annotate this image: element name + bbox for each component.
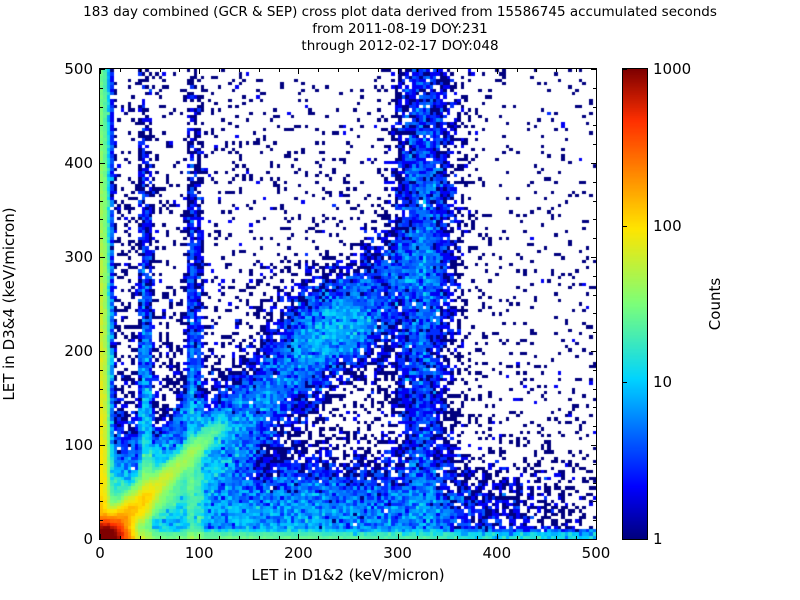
x-minor-tick-top	[477, 69, 478, 72]
figure-canvas: 183 day combined (GCR & SEP) cross plot …	[0, 0, 800, 600]
y-minor-tick	[100, 295, 103, 296]
x-minor-tick	[437, 536, 438, 539]
colorbar-tick	[623, 539, 627, 540]
y-minor-tick	[100, 426, 103, 427]
colorbar-tick	[623, 69, 627, 70]
y-minor-tick-right	[593, 483, 596, 484]
colorbar-tick-label: 1	[653, 530, 663, 548]
y-tick-label: 300	[93, 248, 122, 266]
x-major-tick-top	[398, 69, 399, 74]
y-minor-tick-right	[593, 407, 596, 408]
x-minor-tick	[120, 536, 121, 539]
colorbar-label: Counts	[706, 278, 724, 330]
x-minor-tick	[576, 536, 577, 539]
plot-title: 183 day combined (GCR & SEP) cross plot …	[0, 4, 800, 55]
y-tick-label: 200	[93, 342, 122, 360]
y-minor-tick-right	[593, 276, 596, 277]
x-minor-tick-top	[318, 69, 319, 72]
title-line-1: 183 day combined (GCR & SEP) cross plot …	[0, 4, 800, 21]
y-minor-tick	[100, 313, 103, 314]
x-minor-tick	[358, 536, 359, 539]
x-minor-tick	[338, 536, 339, 539]
y-minor-tick-right	[593, 501, 596, 502]
x-major-tick	[199, 534, 200, 539]
y-minor-tick-right	[593, 332, 596, 333]
title-line-2: from 2011-08-19 DOY:231	[0, 21, 800, 38]
x-minor-tick	[219, 536, 220, 539]
main-axes	[99, 68, 597, 540]
y-minor-tick-right	[593, 389, 596, 390]
x-tick-label: 300	[383, 544, 412, 562]
x-minor-tick	[477, 536, 478, 539]
y-major-tick-right	[591, 69, 596, 70]
colorbar-tick	[623, 226, 627, 227]
x-minor-tick-top	[239, 69, 240, 72]
x-minor-tick	[259, 536, 260, 539]
y-minor-tick	[100, 107, 103, 108]
y-minor-tick-right	[593, 238, 596, 239]
x-minor-tick	[536, 536, 537, 539]
y-minor-tick-right	[593, 144, 596, 145]
x-tick-label: 200	[284, 544, 313, 562]
y-minor-tick	[100, 483, 103, 484]
y-minor-tick	[100, 125, 103, 126]
y-minor-tick-right	[593, 426, 596, 427]
x-tick-label: 500	[582, 544, 611, 562]
x-major-tick	[298, 534, 299, 539]
x-tick-label: 400	[482, 544, 511, 562]
y-minor-tick	[100, 276, 103, 277]
y-tick-label: 400	[93, 154, 122, 172]
x-major-tick-top	[298, 69, 299, 74]
x-minor-tick-top	[219, 69, 220, 72]
x-minor-tick-top	[536, 69, 537, 72]
x-minor-tick-top	[437, 69, 438, 72]
y-minor-tick	[100, 182, 103, 183]
y-tick-label: 500	[93, 60, 122, 78]
y-minor-tick	[100, 88, 103, 89]
y-minor-tick	[100, 219, 103, 220]
x-major-tick	[497, 534, 498, 539]
y-minor-tick-right	[593, 520, 596, 521]
y-minor-tick	[100, 520, 103, 521]
y-major-tick-right	[591, 539, 596, 540]
x-minor-tick-top	[576, 69, 577, 72]
x-minor-tick-top	[358, 69, 359, 72]
x-minor-tick-top	[457, 69, 458, 72]
colorbar-tick-label: 1000	[653, 60, 691, 78]
x-minor-tick-top	[160, 69, 161, 72]
x-minor-tick	[160, 536, 161, 539]
y-minor-tick-right	[593, 107, 596, 108]
y-minor-tick	[100, 201, 103, 202]
x-minor-tick-top	[259, 69, 260, 72]
colorbar-axes	[622, 68, 648, 540]
y-axis-label: LET in D3&4 (keV/micron)	[0, 207, 18, 400]
y-minor-tick	[100, 407, 103, 408]
y-major-tick-right	[591, 445, 596, 446]
x-minor-tick	[417, 536, 418, 539]
y-minor-tick	[100, 389, 103, 390]
x-axis-label: LET in D1&2 (keV/micron)	[99, 566, 597, 584]
y-minor-tick-right	[593, 88, 596, 89]
y-minor-tick-right	[593, 219, 596, 220]
y-tick-label: 100	[93, 436, 122, 454]
x-minor-tick-top	[179, 69, 180, 72]
x-minor-tick	[318, 536, 319, 539]
x-minor-tick-top	[279, 69, 280, 72]
x-minor-tick	[517, 536, 518, 539]
x-major-tick-top	[199, 69, 200, 74]
colorbar-tick-label: 100	[653, 217, 682, 235]
y-minor-tick-right	[593, 182, 596, 183]
x-minor-tick	[378, 536, 379, 539]
y-major-tick-right	[591, 257, 596, 258]
x-minor-tick	[140, 536, 141, 539]
x-minor-tick-top	[517, 69, 518, 72]
x-major-tick	[398, 534, 399, 539]
x-tick-label: 100	[185, 544, 214, 562]
y-minor-tick-right	[593, 464, 596, 465]
colorbar-tick-label: 10	[653, 373, 672, 391]
y-minor-tick	[100, 144, 103, 145]
x-major-tick-top	[497, 69, 498, 74]
y-minor-tick	[100, 370, 103, 371]
y-minor-tick-right	[593, 201, 596, 202]
x-minor-tick	[279, 536, 280, 539]
y-minor-tick-right	[593, 370, 596, 371]
x-major-tick-top	[596, 69, 597, 74]
x-major-tick	[596, 534, 597, 539]
x-minor-tick	[556, 536, 557, 539]
colorbar-gradient	[623, 69, 647, 539]
x-minor-tick-top	[378, 69, 379, 72]
x-minor-tick-top	[556, 69, 557, 72]
y-major-tick-right	[591, 163, 596, 164]
y-minor-tick-right	[593, 125, 596, 126]
x-minor-tick-top	[417, 69, 418, 72]
x-minor-tick	[457, 536, 458, 539]
x-minor-tick-top	[140, 69, 141, 72]
y-minor-tick	[100, 238, 103, 239]
density-heatmap	[100, 69, 596, 539]
y-minor-tick-right	[593, 295, 596, 296]
colorbar-tick	[623, 382, 627, 383]
x-minor-tick	[179, 536, 180, 539]
x-minor-tick	[239, 536, 240, 539]
x-minor-tick-top	[338, 69, 339, 72]
y-tick-label: 0	[93, 530, 103, 548]
y-minor-tick	[100, 332, 103, 333]
y-minor-tick	[100, 501, 103, 502]
y-major-tick-right	[591, 351, 596, 352]
title-line-3: through 2012-02-17 DOY:048	[0, 38, 800, 55]
y-minor-tick-right	[593, 313, 596, 314]
y-minor-tick	[100, 464, 103, 465]
